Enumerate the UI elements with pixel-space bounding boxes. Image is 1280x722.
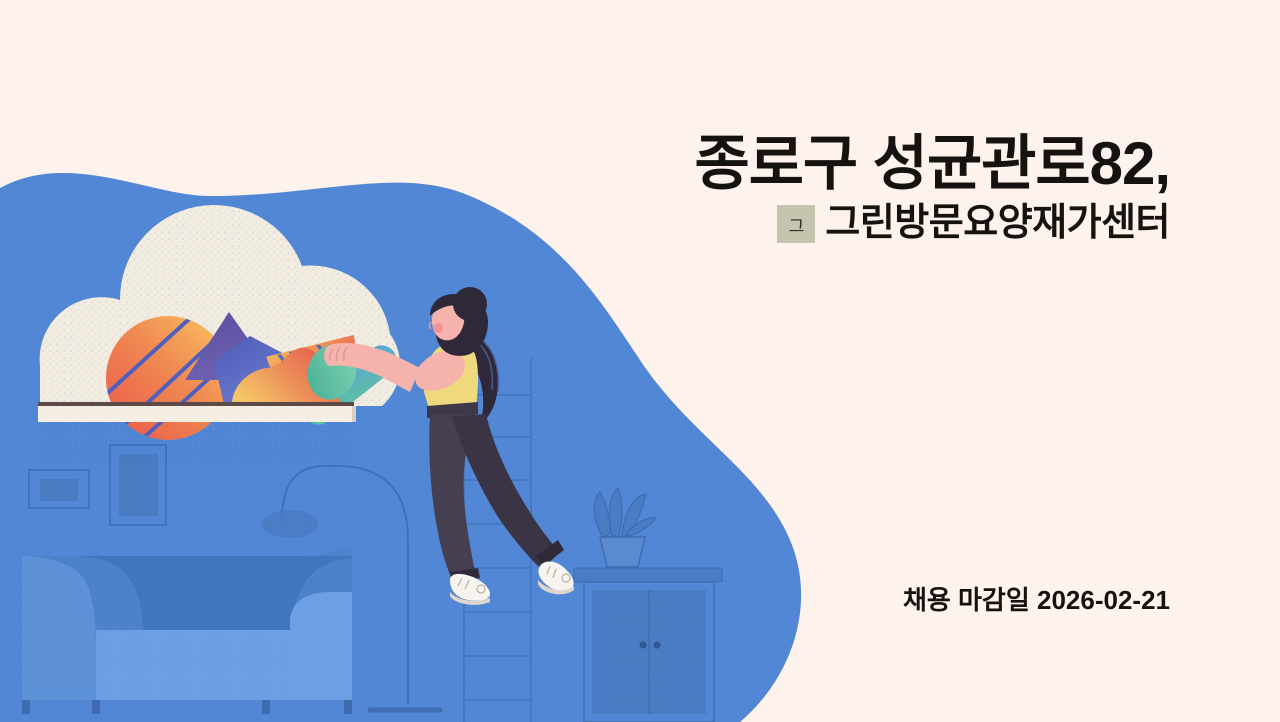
job-posting-poster: 종로구 성균관로82, 그 그린방문요양재가센터 채용 마감일 2026-02-… — [0, 0, 1280, 722]
illustration-graphic — [0, 0, 1280, 722]
sofa — [22, 549, 352, 714]
shelf-board — [38, 402, 356, 422]
